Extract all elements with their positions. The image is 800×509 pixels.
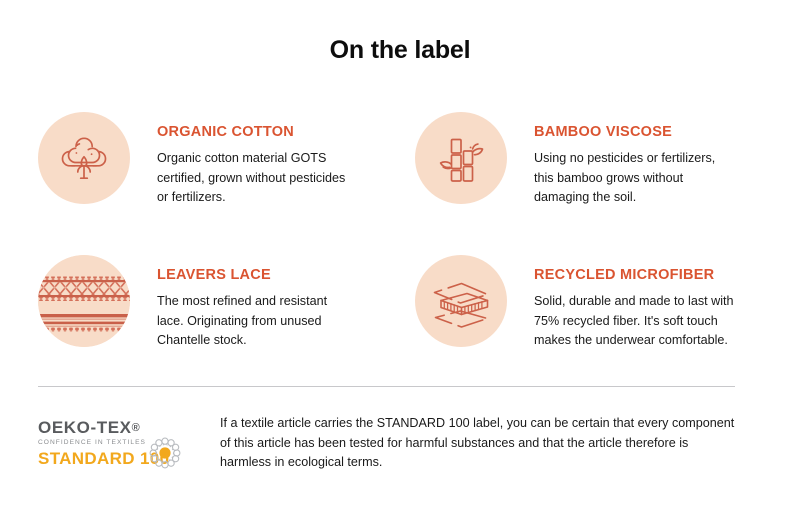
feature-card-recycled-microfiber: RECYCLED MICROFIBER Solid, durable and m… (415, 255, 762, 398)
feature-description: Using no pesticides or fertilizers, this… (534, 149, 726, 208)
registered-mark-icon: ® (132, 422, 141, 434)
cotton-boll-icon (38, 112, 130, 204)
bamboo-stalks-icon (415, 112, 507, 204)
feature-text: RECYCLED MICROFIBER Solid, durable and m… (507, 255, 739, 351)
lace-pattern-icon (38, 255, 130, 347)
oeko-tex-logo: OEKO-TEX® CONFIDENCE IN TEXTILES STANDAR… (38, 414, 178, 467)
feature-title: RECYCLED MICROFIBER (534, 267, 739, 283)
section-divider (38, 386, 735, 387)
feature-description: Organic cotton material GOTS certified, … (157, 149, 349, 208)
oeko-tex-description: If a textile article carries the STANDAR… (178, 414, 738, 473)
feature-description: Solid, durable and made to last with 75%… (534, 292, 739, 351)
feature-card-organic-cotton: ORGANIC COTTON Organic cotton material G… (38, 112, 415, 255)
feature-card-bamboo-viscose: BAMBOO VISCOSE Using no pesticides or fe… (415, 112, 762, 255)
feature-title: ORGANIC COTTON (157, 124, 349, 140)
feature-card-leavers-lace: LEAVERS LACE The most refined and resist… (38, 255, 415, 398)
oeko-tex-name: OEKO-TEX (38, 418, 132, 437)
feature-title: BAMBOO VISCOSE (534, 124, 726, 140)
feature-text: LEAVERS LACE The most refined and resist… (130, 255, 349, 351)
feature-title: LEAVERS LACE (157, 267, 349, 283)
page-title: On the label (0, 36, 800, 65)
feature-description: The most refined and resistant lace. Ori… (157, 292, 349, 351)
feature-text: ORGANIC COTTON Organic cotton material G… (130, 112, 349, 208)
oeko-tex-wordmark: OEKO-TEX® (38, 419, 178, 436)
oeko-tex-footer: OEKO-TEX® CONFIDENCE IN TEXTILES STANDAR… (38, 414, 738, 473)
feature-text: BAMBOO VISCOSE Using no pesticides or fe… (507, 112, 726, 208)
sunburst-emblem-icon (148, 436, 182, 470)
feature-grid: ORGANIC COTTON Organic cotton material G… (38, 112, 762, 398)
label-info-page: On the label (0, 0, 800, 509)
fabric-layers-icon (415, 255, 507, 347)
